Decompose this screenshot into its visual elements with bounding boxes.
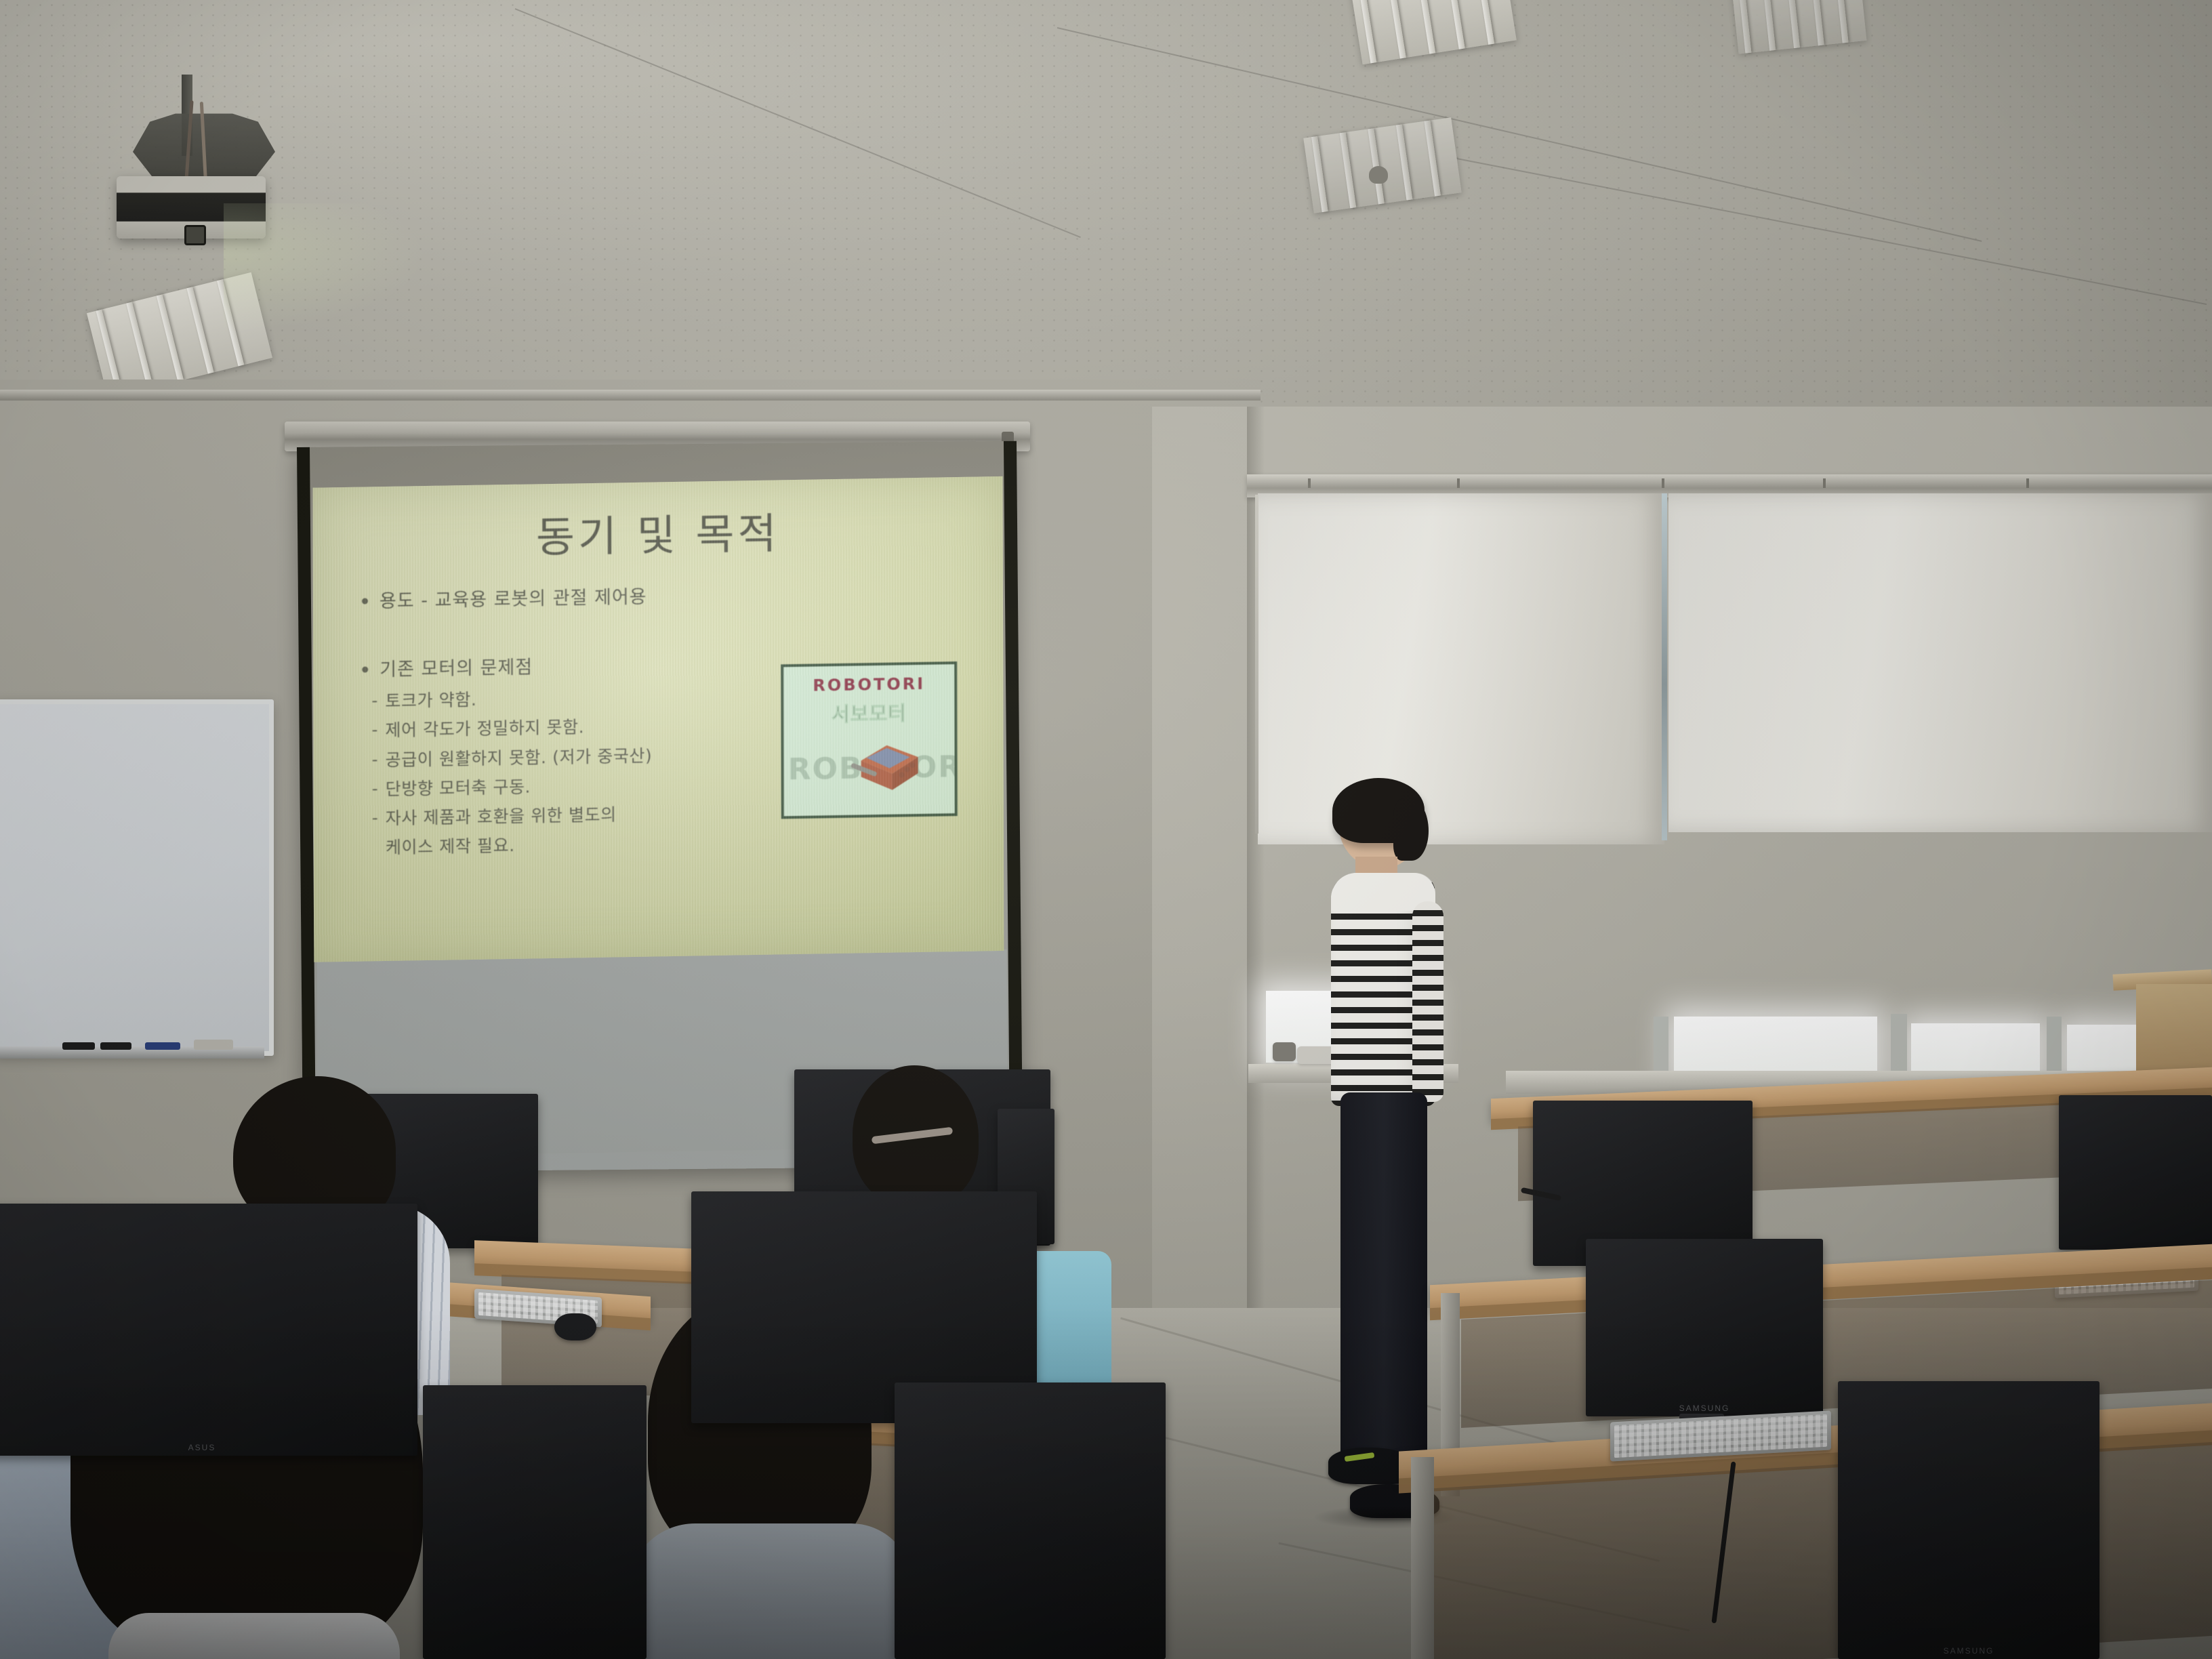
marker[interactable] [62,1042,95,1050]
monitor-brand: ASUS [0,1443,417,1452]
marker[interactable] [145,1042,180,1050]
ceiling-fixture-nub [1369,166,1388,184]
blind-panel-seam [1662,493,1667,840]
slide-bullet: 제어 각도가 정밀하지 못함. [354,712,787,743]
slide-title: 동기 및 목적 [313,495,1003,568]
eraser[interactable] [194,1040,233,1050]
blind-rail-bracket [1662,478,1664,488]
classroom-scene: 동기 및 목적 용도 - 교육용 로봇의 관절 제어용 기존 모터의 문제점 토… [0,0,2212,1659]
monitor [895,1382,1166,1659]
blind-rail-bracket [1308,478,1311,488]
student-shirt [108,1613,400,1659]
product-brand-label: ROBOTORI [783,674,954,695]
blind-rail-bracket [2026,478,2029,488]
blind-side-chain[interactable] [1255,495,1258,834]
blind-rail-bracket [1457,478,1460,488]
slide-bullet: 토크가 약함. [354,682,787,714]
student-shirt [628,1523,912,1659]
slide-bullet: 자사 제품과 호환을 위한 별도의 [354,800,788,832]
monitor [2059,1095,2212,1250]
projection-screen: 동기 및 목적 용도 - 교육용 로봇의 관절 제어용 기존 모터의 문제점 토… [297,441,1023,1172]
monitor: ASUS [0,1204,417,1456]
desk-leg [1411,1457,1434,1659]
sill-object [1273,1042,1296,1061]
whiteboard [0,699,274,1056]
marker[interactable] [100,1042,131,1050]
blind-panel-left[interactable] [1258,493,1664,844]
mouse[interactable] [554,1313,596,1340]
monitor [423,1385,647,1659]
product-image: ROBOTORI ROBOTORI 서보모터 [781,661,958,819]
lectern-body [2136,984,2212,1072]
product-korean-caption: 서보모터 [783,697,954,728]
projector-lens [184,225,206,245]
blind-rail-bracket [1823,478,1826,488]
slide-bullet: 공급이 원활하지 못함. (저가 중국산) [354,741,788,773]
slide-bullet: 용도 - 교육용 로봇의 관절 제어용 [354,581,787,616]
slide-bullet: 단방향 모터축 구동. [354,771,788,802]
monitor-brand: SAMSUNG [1838,1646,2100,1656]
slide-bullet-list: 용도 - 교육용 로봇의 관절 제어용 기존 모터의 문제점 토크가 약함. 제… [354,581,788,865]
blind-panel-right[interactable] [1668,493,2212,832]
monitor: SAMSUNG [1586,1239,1823,1416]
presentation-slide: 동기 및 목적 용도 - 교육용 로봇의 관절 제어용 기존 모터의 문제점 토… [313,476,1004,962]
monitor: SAMSUNG [1838,1381,2100,1659]
presenter-arm [1412,901,1443,1102]
wall-ledge [0,390,1261,401]
slide-bullet: 케이스 제작 필요. [354,829,788,861]
presenter-hair-back [1393,798,1429,861]
servo-motor-icon [842,727,923,796]
monitor-brand: SAMSUNG [1586,1404,1823,1413]
presenter-pants [1340,1092,1427,1473]
